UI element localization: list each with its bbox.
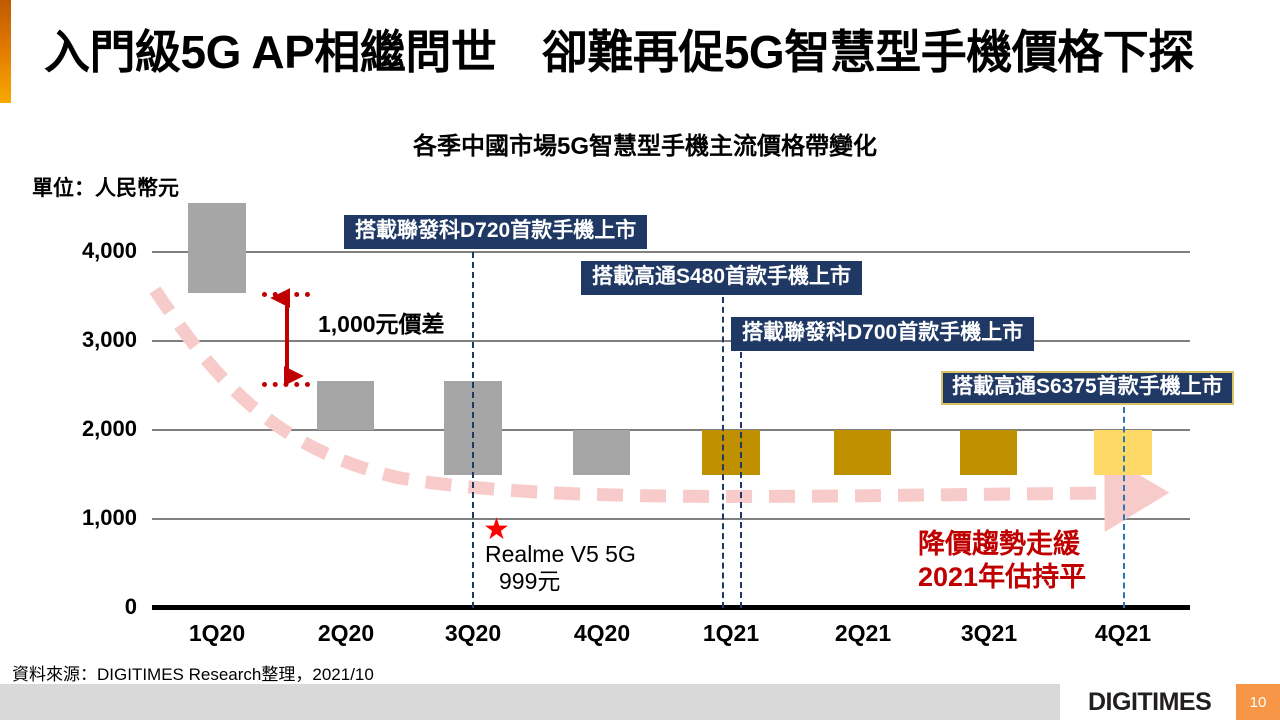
connector-line-3q20: [472, 252, 474, 608]
bar-1q21: [702, 430, 760, 475]
chart-plot-area: 4,000 3,000 2,000 1,000 0 1Q20 2: [0, 0, 1280, 720]
bar-1q20: [188, 203, 246, 293]
footer-band: [0, 684, 1060, 720]
price-trend-line: [0, 0, 1280, 720]
gridline-1000: [152, 518, 1190, 520]
realme-price-label: 999元: [499, 567, 560, 595]
digitimes-logo: DIGITIMES: [1088, 688, 1211, 717]
gridline-4000: [152, 251, 1190, 253]
conclusion-line-1: 降價趨勢走緩: [918, 528, 1080, 561]
y-tick-0: 0: [27, 594, 137, 620]
realme-model-label: Realme V5 5G: [485, 540, 636, 568]
y-tick-1000: 1,000: [27, 505, 137, 531]
bar-4q20: [573, 430, 630, 475]
bar-2q20: [317, 381, 374, 430]
x-tick-3q20: 3Q20: [403, 620, 543, 647]
bar-3q21: [960, 430, 1017, 475]
connector-line-1q21-b: [740, 352, 742, 608]
connector-line-4q21: [1123, 407, 1125, 608]
x-tick-4q21: 4Q21: [1053, 620, 1193, 647]
y-tick-3000: 3,000: [27, 327, 137, 353]
gridline-3000: [152, 340, 1190, 342]
x-tick-1q21: 1Q21: [661, 620, 801, 647]
gap-double-arrow-icon: [278, 290, 300, 386]
x-tick-2q20: 2Q20: [276, 620, 416, 647]
callout-s480: 搭載高通S480首款手機上市: [581, 261, 862, 295]
connector-line-1q21-a: [722, 297, 724, 608]
callout-d720: 搭載聯發科D720首款手機上市: [344, 215, 647, 249]
source-note: 資料來源：DIGITIMES Research整理，2021/10: [12, 660, 374, 685]
y-tick-2000: 2,000: [27, 416, 137, 442]
x-tick-1q20: 1Q20: [147, 620, 287, 647]
callout-d700: 搭載聯發科D700首款手機上市: [731, 317, 1034, 351]
slide: 入門級5G AP相繼問世 卻難再促5G智慧型手機價格下探 各季中國市場5G智慧型…: [0, 0, 1280, 720]
callout-s6375: 搭載高通S6375首款手機上市: [941, 371, 1234, 405]
x-axis-line: [152, 605, 1190, 610]
price-gap-label: 1,000元價差: [318, 305, 445, 339]
y-tick-4000: 4,000: [27, 238, 137, 264]
page-number-badge: 10: [1236, 684, 1280, 720]
gridline-2000: [152, 429, 1190, 431]
conclusion-line-2: 2021年估持平: [918, 561, 1086, 594]
bar-2q21: [834, 430, 891, 475]
x-tick-3q21: 3Q21: [919, 620, 1059, 647]
x-tick-4q20: 4Q20: [532, 620, 672, 647]
x-tick-2q21: 2Q21: [793, 620, 933, 647]
